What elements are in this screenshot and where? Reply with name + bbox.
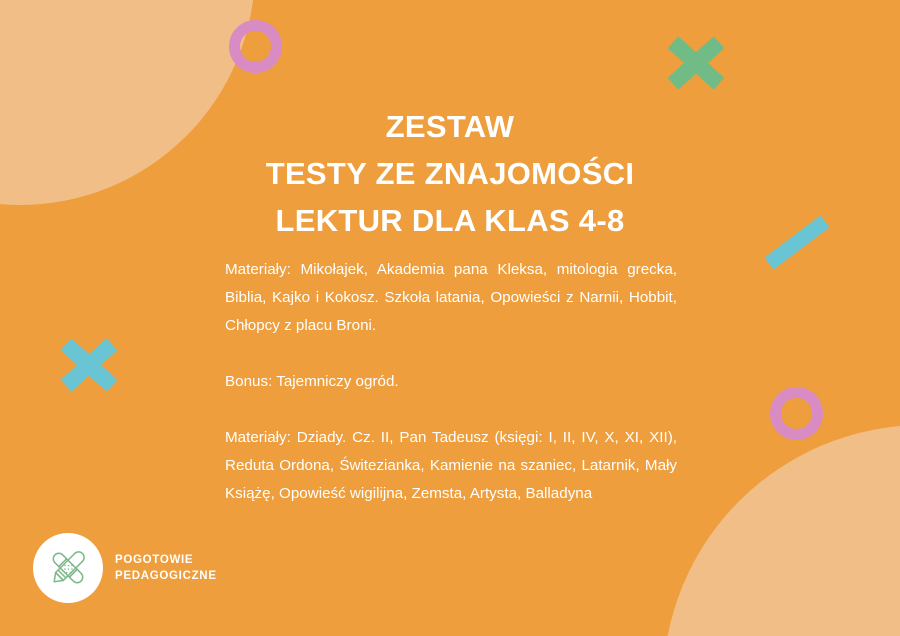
logo-text-line-2: PEDAGOGICZNE bbox=[115, 568, 217, 584]
title-line-1: ZESTAW bbox=[200, 103, 700, 150]
poster-content: ZESTAW TESTY ZE ZNAJOMOŚCI LEKTUR DLA KL… bbox=[0, 0, 900, 636]
body-text: Materiały: Mikołajek, Akademia pana Klek… bbox=[225, 256, 677, 508]
poster-canvas: ZESTAW TESTY ZE ZNAJOMOŚCI LEKTUR DLA KL… bbox=[0, 0, 900, 636]
materials-paragraph-secondary: Materiały: Dziady. Cz. II, Pan Tadeusz (… bbox=[225, 424, 677, 508]
brand-logo: POGOTOWIE PEDAGOGICZNE bbox=[33, 533, 217, 603]
logo-wordmark: POGOTOWIE PEDAGOGICZNE bbox=[115, 552, 217, 584]
bonus-paragraph: Bonus: Tajemniczy ogród. bbox=[225, 368, 677, 396]
logo-text-line-1: POGOTOWIE bbox=[115, 552, 217, 568]
page-title: ZESTAW TESTY ZE ZNAJOMOŚCI LEKTUR DLA KL… bbox=[200, 103, 700, 244]
bandage-pencil-icon bbox=[43, 543, 93, 593]
logo-badge bbox=[33, 533, 103, 603]
title-line-2: TESTY ZE ZNAJOMOŚCI bbox=[200, 150, 700, 197]
materials-paragraph-primary: Materiały: Mikołajek, Akademia pana Klek… bbox=[225, 256, 677, 340]
title-line-3: LEKTUR DLA KLAS 4-8 bbox=[200, 197, 700, 244]
